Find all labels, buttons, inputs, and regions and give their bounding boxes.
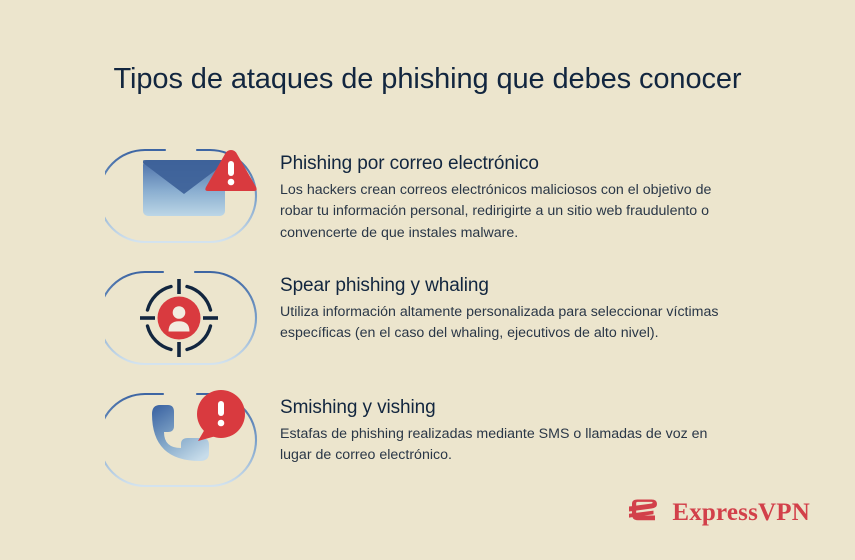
expressvpn-logo: ExpressVPN — [623, 492, 810, 532]
list-item: Spear phishing y whaling Utiliza informa… — [0, 262, 855, 384]
infographic-canvas: Tipos de ataques de phishing que debes c… — [0, 0, 855, 560]
page-title: Tipos de ataques de phishing que debes c… — [0, 62, 855, 97]
email-warning-icon — [105, 142, 280, 252]
list-item: Smishing y vishing Estafas de phishing r… — [0, 384, 855, 506]
item-title: Smishing y vishing — [280, 396, 735, 420]
icon-container-phone — [105, 384, 280, 494]
list-item: Phishing por correo electrónico Los hack… — [0, 140, 855, 262]
text-container: Smishing y vishing Estafas de phishing r… — [280, 384, 735, 467]
target-person-icon — [105, 264, 280, 374]
item-description: Estafas de phishing realizadas mediante … — [280, 424, 730, 467]
text-container: Spear phishing y whaling Utiliza informa… — [280, 262, 735, 345]
phone-alert-icon — [105, 386, 280, 496]
item-title: Phishing por correo electrónico — [280, 152, 735, 176]
item-title: Spear phishing y whaling — [280, 274, 735, 298]
attack-type-list: Phishing por correo electrónico Los hack… — [0, 140, 855, 506]
icon-container-target — [105, 262, 280, 372]
item-description: Utiliza información altamente personaliz… — [280, 302, 730, 345]
text-container: Phishing por correo electrónico Los hack… — [280, 140, 735, 244]
item-description: Los hackers crean correos electrónicos m… — [280, 180, 730, 245]
expressvpn-e-mark-icon — [623, 492, 663, 532]
icon-container-email — [105, 140, 280, 250]
expressvpn-wordmark: ExpressVPN — [672, 500, 810, 525]
